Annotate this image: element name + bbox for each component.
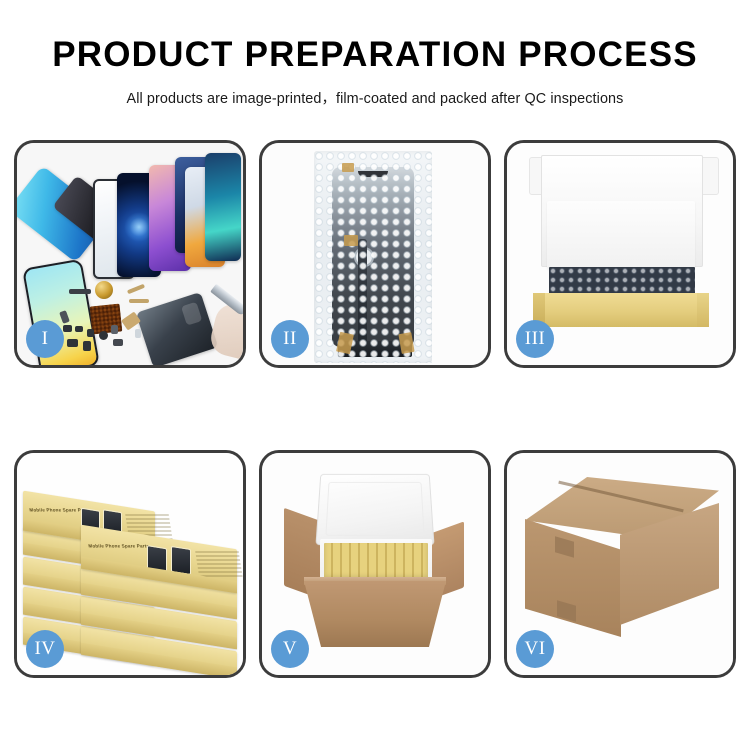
step-badge-1: I (26, 320, 64, 358)
tape-strip-1 (342, 163, 354, 172)
step-panel-4[interactable]: Mobile Phone Spare Parts Mobile Phone Sp… (14, 450, 246, 678)
step-panel-2[interactable]: II (259, 140, 491, 368)
step-panel-6[interactable]: VI (504, 450, 736, 678)
flex-cable-1 (69, 289, 91, 294)
step-badge-4: IV (26, 630, 64, 668)
small-part-1 (63, 325, 72, 332)
page-subtitle: All products are image-printed，film-coat… (0, 87, 750, 108)
flex-cable-2 (127, 284, 145, 294)
step-panel-3[interactable]: III (504, 140, 736, 368)
speaker-component (95, 281, 113, 299)
small-part-7 (111, 325, 118, 334)
flex-cable-3 (129, 299, 149, 303)
bubble-wrap-bag (314, 151, 432, 363)
step-badge-3: III (516, 320, 554, 358)
step-badge-2: II (271, 320, 309, 358)
step-badge-6: VI (516, 630, 554, 668)
process-step-grid: I II (14, 140, 736, 678)
phone-back-housing (136, 292, 219, 368)
small-part-4 (99, 331, 108, 340)
small-part-6 (83, 341, 91, 351)
box-label-text-front: Mobile Phone Spare Parts (88, 544, 150, 549)
step-panel-1[interactable]: I (14, 140, 246, 368)
step-badge-5: V (271, 630, 309, 668)
bubble-texture (314, 151, 432, 363)
small-part-9 (113, 339, 123, 346)
small-part-11 (135, 329, 141, 338)
box-spec-lines-front (195, 551, 243, 577)
small-part-5 (67, 339, 78, 347)
product-preparation-infographic: PRODUCT PREPARATION PROCESS All products… (0, 0, 750, 750)
foam-lining (547, 201, 695, 269)
small-part-3 (87, 329, 94, 337)
box-flap-right (701, 157, 719, 195)
yellow-box-base (533, 293, 709, 327)
tape-strip-2 (344, 235, 358, 246)
phone-display-teal (205, 153, 241, 261)
yellow-boxes-inside-carton (324, 543, 428, 581)
small-part-2 (75, 326, 83, 332)
carton-front-panel (304, 581, 446, 647)
header: PRODUCT PREPARATION PROCESS All products… (0, 0, 750, 108)
page-title: PRODUCT PREPARATION PROCESS (0, 36, 750, 75)
bubble-wrap-contents (549, 267, 695, 295)
foam-box-lid (315, 474, 434, 545)
step-panel-5[interactable]: V (259, 450, 491, 678)
